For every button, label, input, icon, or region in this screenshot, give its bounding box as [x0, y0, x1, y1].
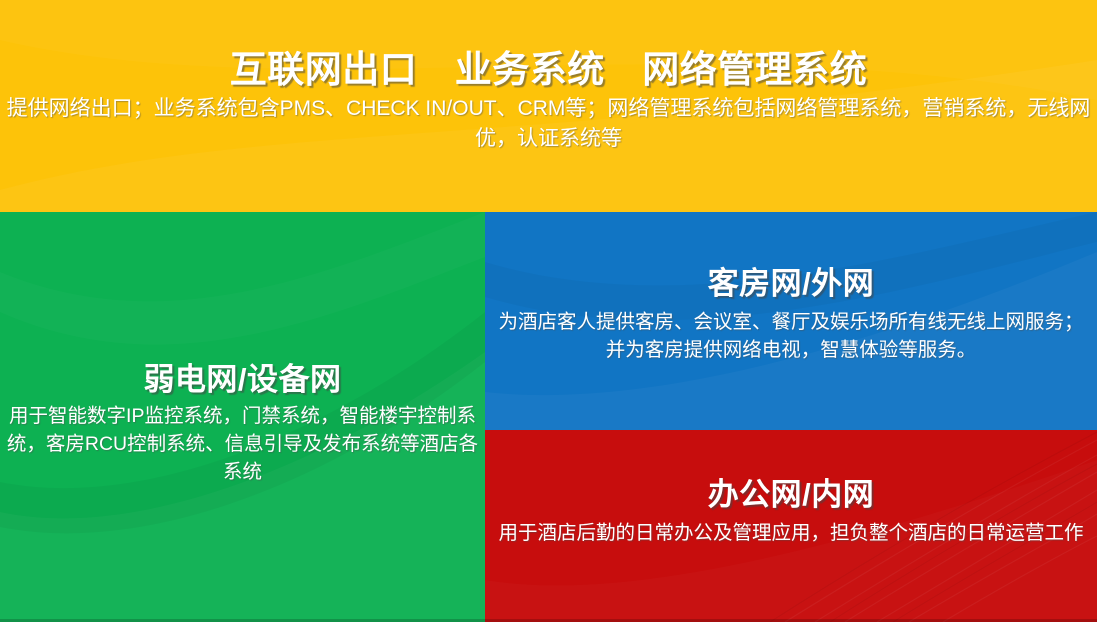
slide-canvas: 互联网出口 业务系统 网络管理系统 提供网络出口；业务系统包含PMS、CHECK…: [0, 0, 1097, 622]
panel-guest-room-network[interactable]: 客房网/外网 为酒店客人提供客房、会议室、餐厅及娱乐场所有线无线上网服务；并为客…: [485, 212, 1097, 430]
panel-guest-room-body: 为酒店客人提供客房、会议室、餐厅及娱乐场所有线无线上网服务；并为客房提供网络电视…: [485, 304, 1097, 364]
panel-internet-heading: 互联网出口 业务系统 网络管理系统: [0, 48, 1097, 92]
panel-weak-current-network[interactable]: 弱电网/设备网 用于智能数字IP监控系统，门禁系统，智能楼宇控制系统，客房RCU…: [0, 212, 485, 622]
panel-weak-current-content: 弱电网/设备网 用于智能数字IP监控系统，门禁系统，智能楼宇控制系统，客房RCU…: [0, 360, 485, 486]
panel-office-body: 用于酒店后勤的日常办公及管理应用，担负整个酒店的日常运营工作: [485, 515, 1097, 547]
panel-internet-body: 提供网络出口；业务系统包含PMS、CHECK IN/OUT、CRM等；网络管理系…: [0, 92, 1097, 154]
panel-internet-content: 互联网出口 业务系统 网络管理系统 提供网络出口；业务系统包含PMS、CHECK…: [0, 0, 1097, 154]
panel-weak-current-body: 用于智能数字IP监控系统，门禁系统，智能楼宇控制系统，客房RCU控制系统、信息引…: [0, 400, 485, 486]
panel-office-heading: 办公网/内网: [485, 475, 1097, 515]
panel-internet-egress[interactable]: 互联网出口 业务系统 网络管理系统 提供网络出口；业务系统包含PMS、CHECK…: [0, 0, 1097, 212]
panel-weak-current-heading: 弱电网/设备网: [0, 360, 485, 400]
panel-guest-room-heading: 客房网/外网: [485, 264, 1097, 304]
panel-office-network[interactable]: 办公网/内网 用于酒店后勤的日常办公及管理应用，担负整个酒店的日常运营工作: [485, 430, 1097, 622]
panel-guest-room-content: 客房网/外网 为酒店客人提供客房、会议室、餐厅及娱乐场所有线无线上网服务；并为客…: [485, 264, 1097, 364]
panel-office-content: 办公网/内网 用于酒店后勤的日常办公及管理应用，担负整个酒店的日常运营工作: [485, 475, 1097, 547]
